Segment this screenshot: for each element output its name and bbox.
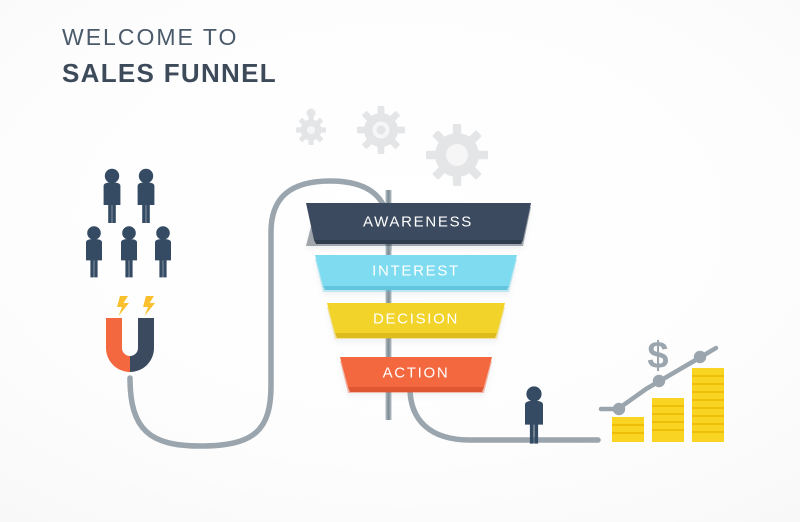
people-group-icon (86, 169, 171, 278)
coin-stack-bar (612, 417, 644, 442)
gear-medium-icon (357, 106, 405, 154)
funnel-stage-action[interactable] (340, 357, 492, 393)
funnel-stage-decision[interactable] (327, 303, 505, 339)
revenue-chart: $ (601, 335, 724, 442)
lightning-bolt-icon (117, 296, 155, 316)
trend-marker (613, 403, 625, 415)
trend-marker (694, 351, 706, 363)
trend-marker (653, 375, 665, 387)
coin-stack-bar (692, 368, 724, 442)
funnel-stage-interest[interactable] (315, 255, 517, 292)
gear-small-icon (296, 109, 326, 146)
customer-person-icon (525, 386, 543, 443)
dollar-sign-icon: $ (647, 335, 668, 377)
magnet-icon (106, 296, 155, 372)
flow-path-outbound (410, 388, 598, 440)
funnel-illustration: $ (0, 0, 800, 522)
coin-stack-bar (652, 398, 684, 442)
funnel-stage-awareness[interactable] (306, 203, 531, 246)
infographic-canvas: WELCOME TO SALES FUNNEL (0, 0, 800, 522)
gear-large-icon (426, 124, 488, 186)
